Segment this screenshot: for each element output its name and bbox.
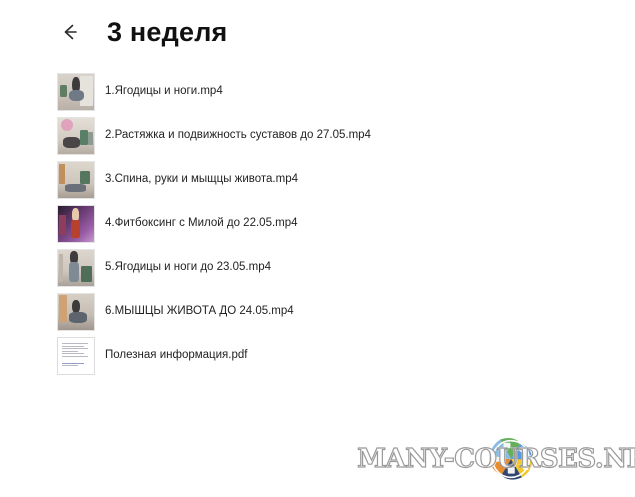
video-thumbnail[interactable] <box>57 117 95 155</box>
file-name: 5.Ягодицы и ноги до 23.05.mp4 <box>105 262 271 274</box>
file-name: 1.Ягодицы и ноги.mp4 <box>105 86 223 98</box>
watermark: MANY-COURSES.NET <box>400 430 622 488</box>
file-name: 3.Спина, руки и мыщцы живота.mp4 <box>105 174 298 186</box>
file-name: 2.Растяжка и подвижность суставов до 27.… <box>105 130 371 142</box>
list-item[interactable]: 2.Растяжка и подвижность суставов до 27.… <box>57 114 635 158</box>
list-item[interactable]: 6.МЫШЦЫ ЖИВОТА ДО 24.05.mp4 <box>57 290 635 334</box>
pdf-thumbnail[interactable] <box>57 337 95 375</box>
list-item[interactable]: 5.Ягодицы и ноги до 23.05.mp4 <box>57 246 635 290</box>
video-thumbnail[interactable] <box>57 161 95 199</box>
video-thumbnail[interactable] <box>57 205 95 243</box>
list-item[interactable]: 3.Спина, руки и мыщцы живота.mp4 <box>57 158 635 202</box>
file-list: 1.Ягодицы и ноги.mp4 2.Растяжка и подвиж… <box>0 70 635 378</box>
file-name: Полезная информация.pdf <box>105 350 247 362</box>
video-thumbnail[interactable] <box>57 293 95 331</box>
watermark-text: MANY-COURSES.NET <box>357 444 635 474</box>
list-item[interactable]: Полезная информация.pdf <box>57 334 635 378</box>
list-item[interactable]: 4.Фитбоксинг с Милой до 22.05.mp4 <box>57 202 635 246</box>
page-title: 3 неделя <box>107 19 228 46</box>
list-item[interactable]: 1.Ягодицы и ноги.mp4 <box>57 70 635 114</box>
video-thumbnail[interactable] <box>57 73 95 111</box>
file-name: 6.МЫШЦЫ ЖИВОТА ДО 24.05.mp4 <box>105 306 294 318</box>
file-name: 4.Фитбоксинг с Милой до 22.05.mp4 <box>105 218 298 230</box>
page-header: 3 неделя <box>0 0 635 46</box>
back-arrow-icon[interactable] <box>58 20 82 44</box>
video-thumbnail[interactable] <box>57 249 95 287</box>
